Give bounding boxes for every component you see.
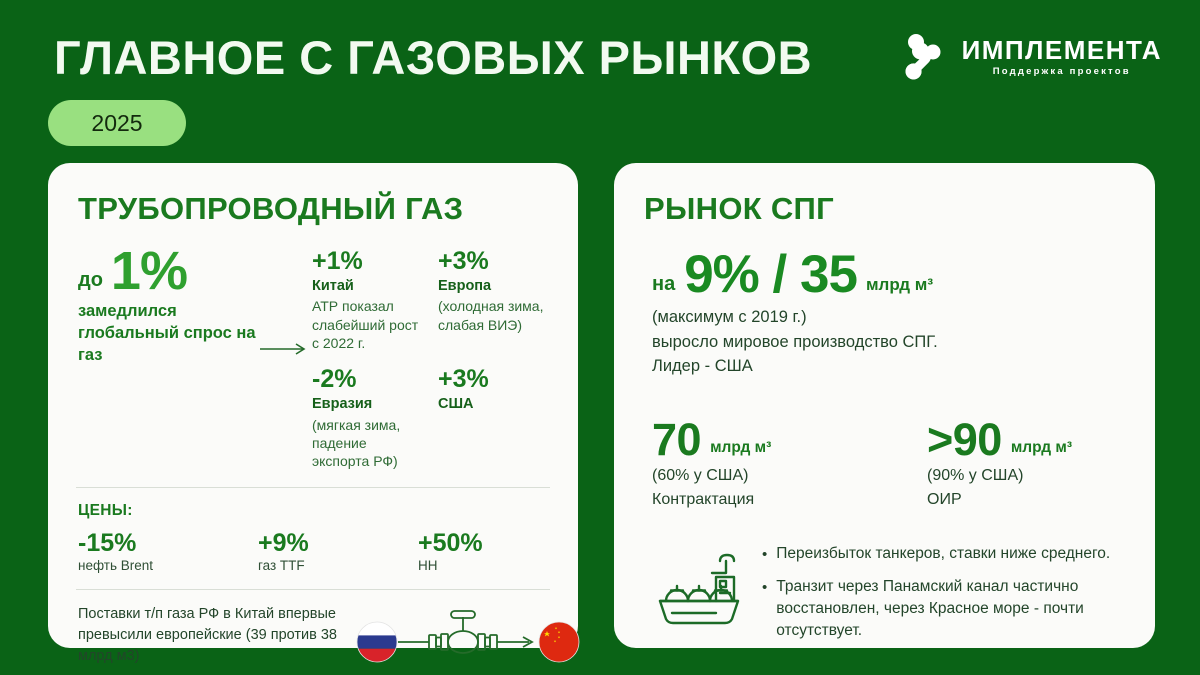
lng-stat-block: >90 млрд м³ (90% у США) ОИР bbox=[927, 419, 1072, 511]
region-name: США bbox=[438, 395, 552, 415]
region-note: (мягкая зима, падение экспорта РФ) bbox=[312, 416, 426, 471]
global-demand-section: до 1% замедлился глобальный спрос на газ… bbox=[74, 246, 552, 471]
pipeline-gas-card: ТРУБОПРОВОДНЫЙ ГАЗ до 1% замедлился глоб… bbox=[48, 163, 578, 648]
prices-row: -15% нефть Brent +9% газ TTF +50% HH bbox=[78, 530, 552, 573]
year-badge: 2025 bbox=[48, 100, 186, 146]
demand-value: 1% bbox=[111, 246, 187, 297]
bullet-text: Транзит через Панамский канал частично в… bbox=[776, 576, 1129, 642]
lng-stat-unit: млрд м³ bbox=[1011, 440, 1072, 462]
region-name: Европа bbox=[438, 277, 552, 297]
infographic-root: ГЛАВНОЕ С ГАЗОВЫХ РЫНКОВ 2025 ИМПЛЕМЕНТА… bbox=[0, 0, 1200, 675]
pipeline-card-title: ТРУБОПРОВОДНЫЙ ГАЗ bbox=[78, 193, 552, 224]
lng-stat-note: (60% у США) bbox=[652, 466, 927, 487]
price-item: +50% HH bbox=[418, 530, 483, 573]
implementa-mark-icon bbox=[903, 33, 949, 80]
page-header: ГЛАВНОЕ С ГАЗОВЫХ РЫНКОВ 2025 ИМПЛЕМЕНТА… bbox=[0, 0, 1200, 163]
price-name: нефть Brent bbox=[78, 558, 258, 573]
lng-stat-note: (90% у США) bbox=[927, 466, 1072, 487]
prices-divider bbox=[76, 487, 550, 488]
lng-carrier-icon bbox=[654, 543, 750, 638]
footnote-text: Поставки т/п газа РФ в Китай впервые пре… bbox=[78, 604, 353, 667]
prices-label: ЦЕНЫ: bbox=[78, 502, 552, 520]
price-name: HH bbox=[418, 558, 483, 573]
region-value: +3% bbox=[438, 366, 552, 394]
lng-card-title: РЫНОК СПГ bbox=[644, 193, 1129, 224]
region-note: (холодная зима, слабая ВИЭ) bbox=[438, 297, 552, 334]
lng-stat-name: Контрактация bbox=[652, 490, 927, 511]
list-item: • Переизбыток танкеров, ставки ниже сред… bbox=[762, 543, 1129, 565]
china-supply-footnote: Поставки т/п газа РФ в Китай впервые пре… bbox=[78, 604, 552, 667]
demand-caption: замедлился глобальный спрос на газ bbox=[78, 301, 256, 367]
region-name: Евразия bbox=[312, 395, 426, 415]
lng-hero-unit: млрд м³ bbox=[866, 276, 933, 300]
lng-hero-sub-2: выросло мировое производство СПГ. bbox=[652, 331, 1129, 354]
lng-hero-sub-1: (максимум с 2019 г.) bbox=[652, 306, 1129, 329]
price-value: -15% bbox=[78, 530, 258, 556]
price-value: +50% bbox=[418, 530, 483, 556]
lng-hero-prefix: на bbox=[652, 274, 675, 300]
bullet-dot-icon: • bbox=[762, 543, 767, 565]
region-cell: -2% Евразия (мягкая зима, падение экспор… bbox=[312, 366, 426, 470]
region-value: -2% bbox=[312, 366, 426, 394]
price-name: газ TTF bbox=[258, 558, 418, 573]
lng-production-hero: на 9% / 35 млрд м³ (максимум с 2019 г.) … bbox=[652, 250, 1129, 379]
bullet-text: Переизбыток танкеров, ставки ниже средне… bbox=[776, 543, 1110, 565]
bullet-dot-icon: • bbox=[762, 576, 767, 642]
year-badge-label: 2025 bbox=[91, 110, 142, 137]
lng-shipping-section: • Переизбыток танкеров, ставки ниже сред… bbox=[654, 543, 1129, 653]
region-cell: +1% Китай АТР показал слабейший рост с 2… bbox=[312, 248, 426, 352]
lng-stats-row: 70 млрд м³ (60% у США) Контрактация >90 … bbox=[652, 419, 1129, 511]
footnote-divider bbox=[76, 589, 550, 590]
demand-prefix: до bbox=[78, 270, 103, 297]
pipeline-valve-icon bbox=[429, 611, 497, 653]
region-value: +3% bbox=[438, 248, 552, 276]
price-value: +9% bbox=[258, 530, 418, 556]
brand-logo: ИМПЛЕМЕНТА Поддержка проектов bbox=[903, 33, 1162, 80]
lng-market-card: РЫНОК СПГ на 9% / 35 млрд м³ (максимум с… bbox=[614, 163, 1155, 648]
page-title: ГЛАВНОЕ С ГАЗОВЫХ РЫНКОВ bbox=[54, 34, 812, 81]
lng-bullet-list: • Переизбыток танкеров, ставки ниже сред… bbox=[750, 543, 1129, 653]
arrow-right-icon bbox=[259, 342, 309, 356]
logo-tagline: Поддержка проектов bbox=[962, 67, 1162, 77]
lng-stat-unit: млрд м³ bbox=[710, 440, 771, 462]
demand-arrow bbox=[256, 246, 312, 471]
regions-grid: +1% Китай АТР показал слабейший рост с 2… bbox=[312, 246, 552, 471]
global-demand-hero: до 1% замедлился глобальный спрос на газ bbox=[74, 246, 256, 471]
list-item: • Транзит через Панамский канал частично… bbox=[762, 576, 1129, 642]
price-item: +9% газ TTF bbox=[258, 530, 418, 573]
region-cell: +3% Европа (холодная зима, слабая ВИЭ) bbox=[438, 248, 552, 352]
lng-hero-sub-3: Лидер - США bbox=[652, 355, 1129, 378]
lng-hero-value: 9% / 35 bbox=[684, 250, 857, 300]
logo-wordmark: ИМПЛЕМЕНТА bbox=[962, 37, 1162, 63]
lng-stat-value: 70 bbox=[652, 419, 701, 462]
lng-stat-name: ОИР bbox=[927, 490, 1072, 511]
region-value: +1% bbox=[312, 248, 426, 276]
lng-stat-block: 70 млрд м³ (60% у США) Контрактация bbox=[652, 419, 927, 511]
russia-china-route-graphic bbox=[353, 607, 583, 665]
region-note: АТР показал слабейший рост с 2022 г. bbox=[312, 297, 426, 352]
region-name: Китай bbox=[312, 277, 426, 297]
region-cell: +3% США bbox=[438, 366, 552, 470]
lng-stat-value: >90 bbox=[927, 419, 1002, 462]
logo-text: ИМПЛЕМЕНТА Поддержка проектов bbox=[962, 37, 1162, 77]
price-item: -15% нефть Brent bbox=[78, 530, 258, 573]
